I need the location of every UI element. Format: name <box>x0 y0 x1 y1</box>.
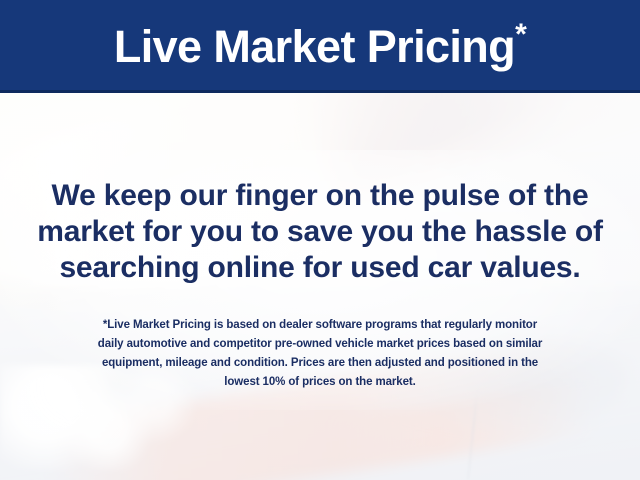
disclaimer: *Live Market Pricing is based on dealer … <box>0 316 640 392</box>
disclaimer-line-2: daily automotive and competitor pre-owne… <box>0 335 640 354</box>
headline-line-1: We keep our finger on the pulse of the <box>0 178 640 214</box>
headline: We keep our finger on the pulse of the m… <box>0 178 640 286</box>
banner-title: Live Market Pricing* <box>114 20 526 71</box>
header-banner: Live Market Pricing* <box>0 0 640 93</box>
disclaimer-line-3: equipment, mileage and condition. Prices… <box>0 354 640 373</box>
disclaimer-line-1: *Live Market Pricing is based on dealer … <box>0 316 640 335</box>
banner-title-text: Live Market Pricing <box>114 21 515 72</box>
banner-title-asterisk: * <box>515 18 526 51</box>
disclaimer-line-4: lowest 10% of prices on the market. <box>0 373 640 392</box>
headline-line-2: market for you to save you the hassle of <box>0 214 640 250</box>
live-market-pricing-card: Live Market Pricing* We keep our finger … <box>0 0 640 480</box>
headline-line-3: searching online for used car values. <box>0 250 640 286</box>
